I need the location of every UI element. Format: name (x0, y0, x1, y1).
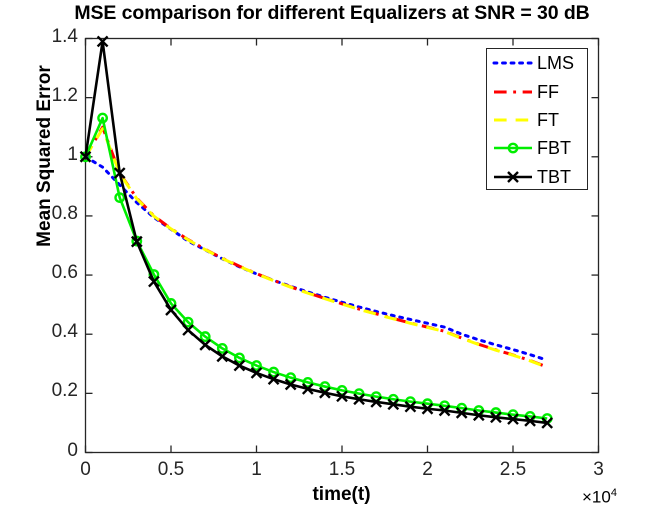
legend-line-sample (492, 138, 534, 158)
legend-swatch-lms (492, 53, 534, 73)
legend[interactable]: LMSFFFTFBTTBT (486, 48, 588, 190)
legend-item-lms[interactable]: LMS (487, 49, 587, 77)
legend-label-fbt: FBT (537, 139, 571, 157)
legend-item-fbt[interactable]: FBT (487, 134, 587, 162)
legend-line-sample (492, 167, 534, 187)
legend-label-ff: FF (537, 83, 559, 101)
legend-swatch-tbt (492, 167, 534, 187)
figure-container: MSE comparison for different Equalizers … (0, 0, 664, 523)
legend-item-ff[interactable]: FF (487, 77, 587, 105)
legend-swatch-ff (492, 82, 534, 102)
legend-line-sample (492, 53, 534, 73)
legend-label-ft: FT (537, 111, 559, 129)
legend-item-ft[interactable]: FT (487, 106, 587, 134)
legend-line-sample (492, 110, 534, 130)
legend-label-tbt: TBT (537, 168, 571, 186)
legend-swatch-fbt (492, 138, 534, 158)
legend-swatch-ft (492, 110, 534, 130)
legend-line-sample (492, 82, 534, 102)
legend-label-lms: LMS (537, 54, 574, 72)
legend-item-tbt[interactable]: TBT (487, 163, 587, 191)
